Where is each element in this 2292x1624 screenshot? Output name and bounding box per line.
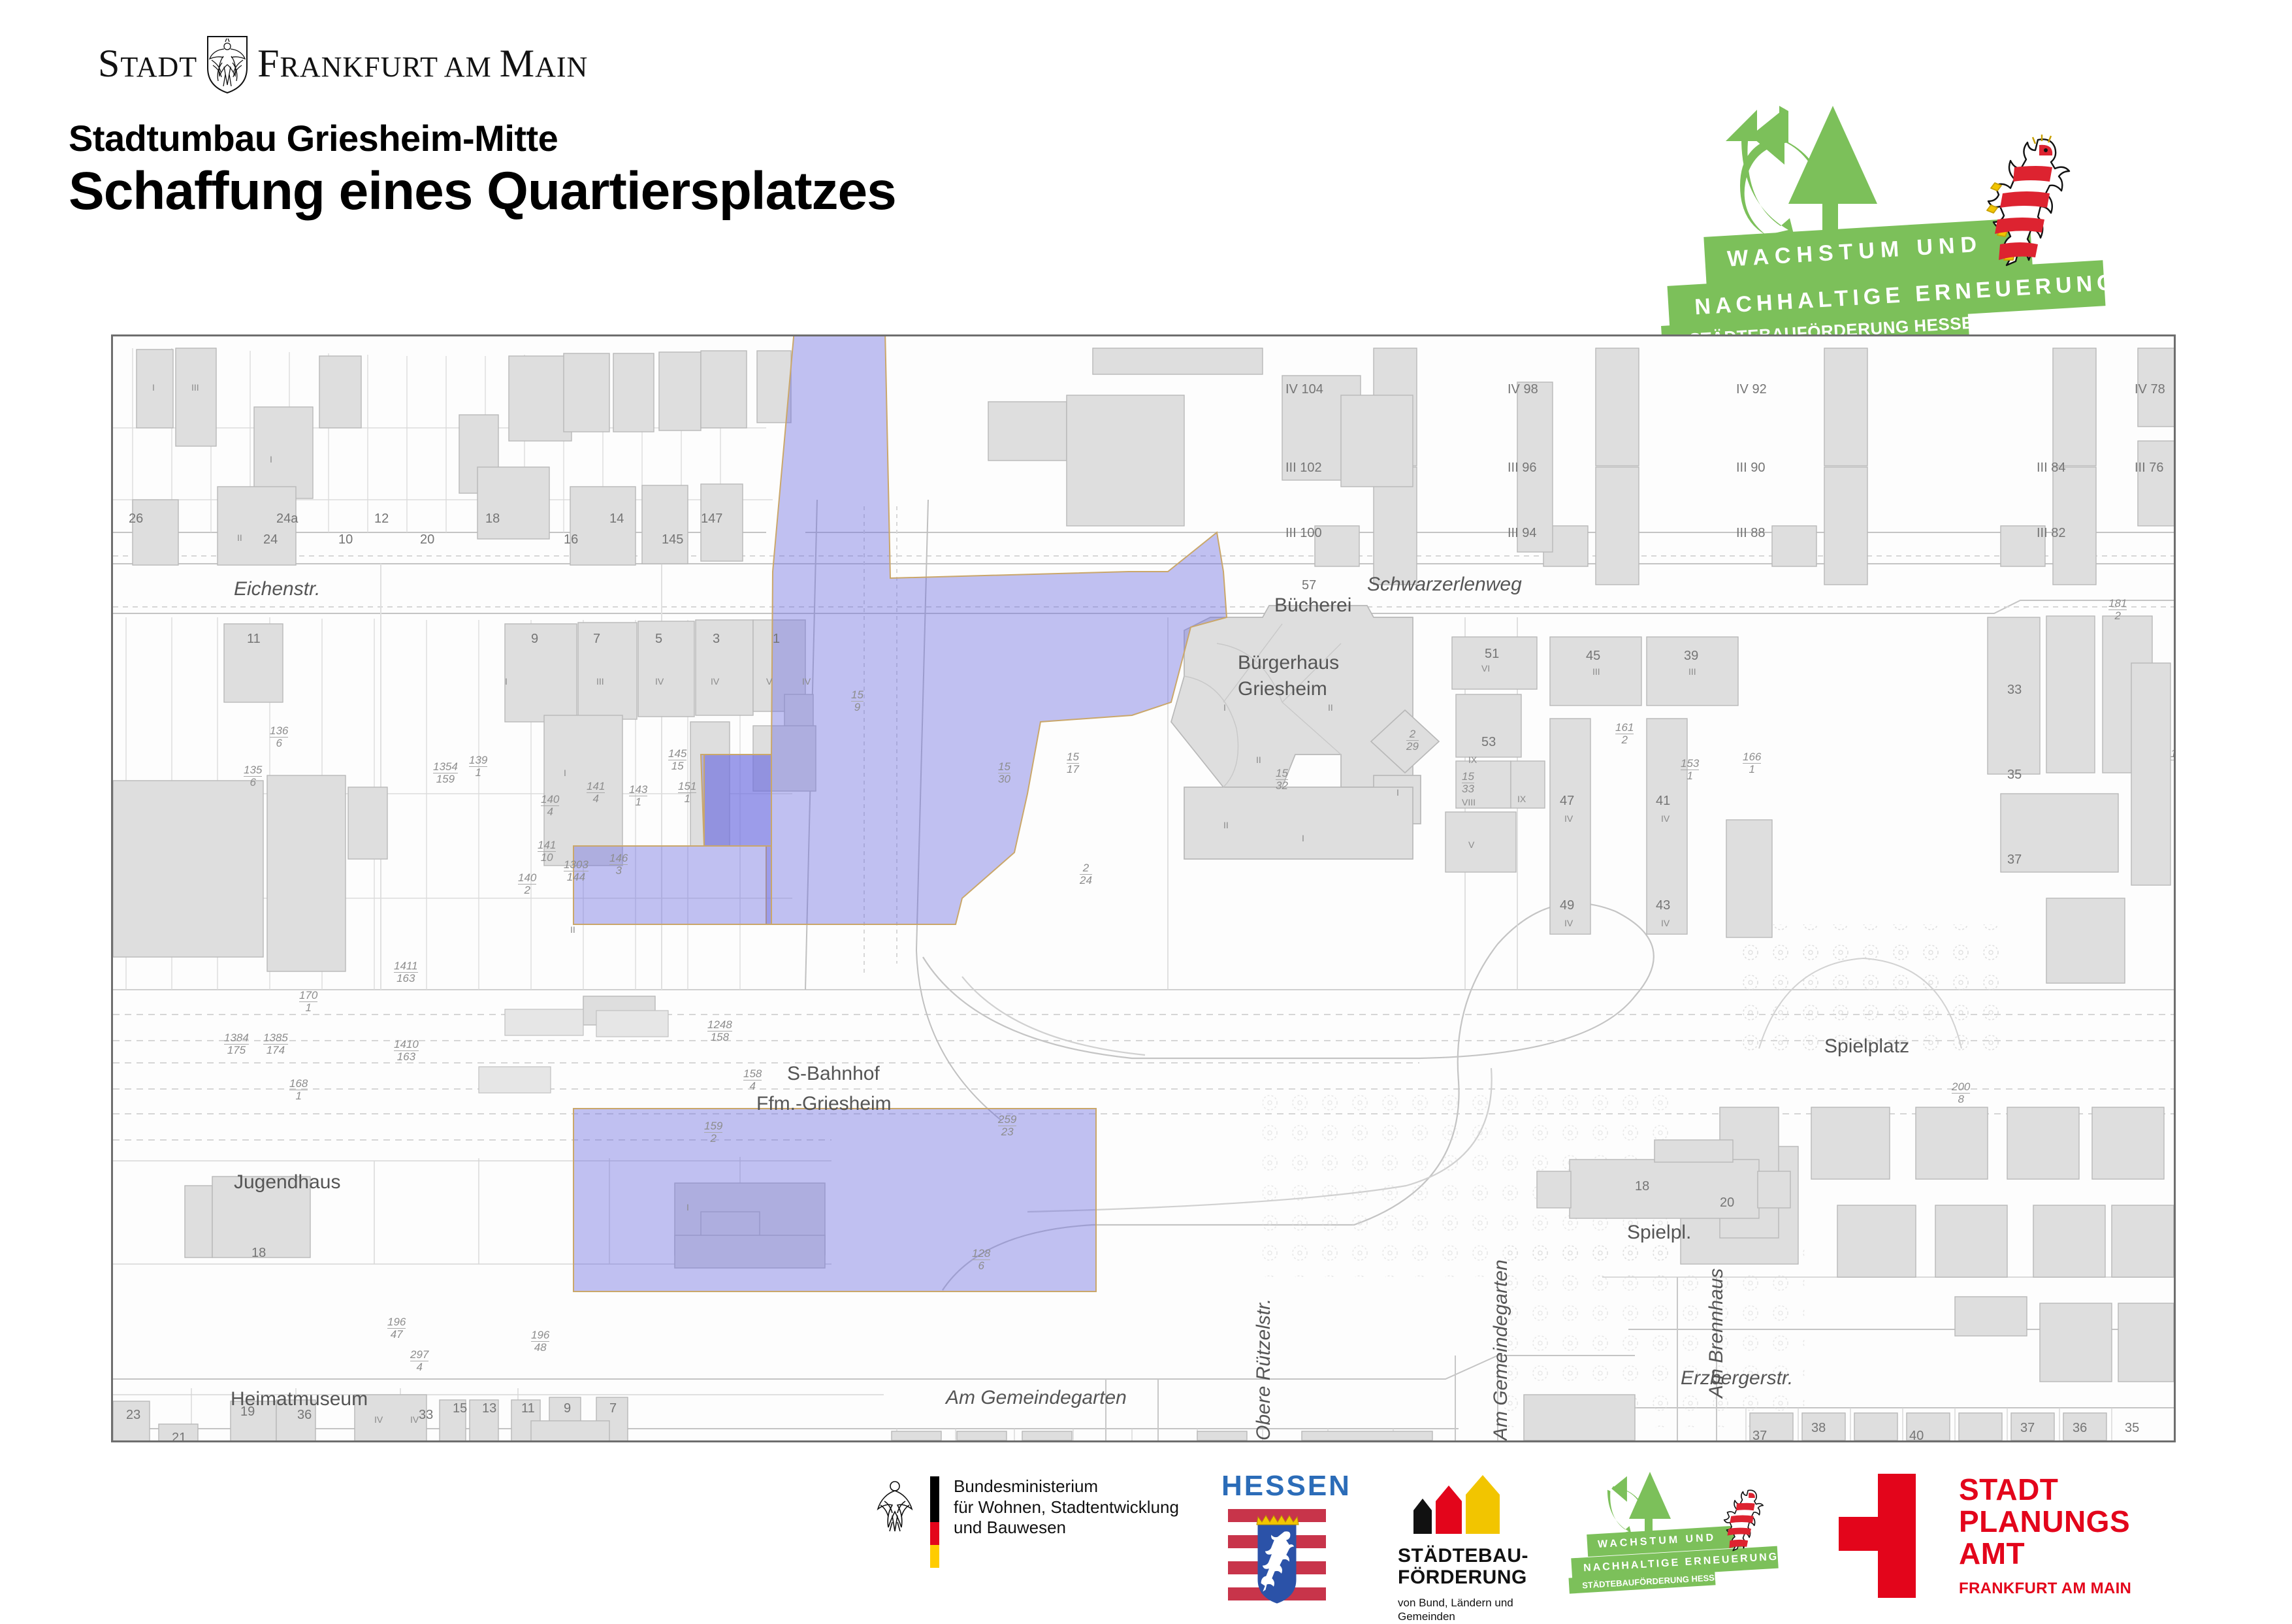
parcel-numerator: 1354 — [433, 761, 458, 773]
house-number: 1 — [773, 632, 780, 647]
title-block: Stadtumbau Griesheim-Mitte Schaffung ein… — [69, 118, 896, 221]
house-number: 3 — [713, 632, 720, 647]
house-number: 145 — [662, 532, 683, 547]
house-number: 7 — [609, 1401, 617, 1416]
house-number: 24 — [263, 532, 278, 547]
parcel-numerator: 159 — [704, 1120, 722, 1133]
parcel-denominator: 1 — [684, 792, 690, 805]
hessen-logo: HESSEN — [1221, 1470, 1332, 1606]
staedtebau-line2: FÖRDERUNG — [1398, 1567, 1555, 1588]
house-number: 33 — [419, 1408, 433, 1423]
logo-line1-text: WACHSTUM UND — [1726, 231, 1983, 272]
parcel-number: 1404 — [541, 794, 559, 818]
parcel-numerator: 259 — [998, 1114, 1016, 1126]
staedtebau-sub1: von Bund, Ländern und — [1398, 1596, 1555, 1610]
house-number: III 94 — [1508, 526, 1536, 541]
parcel-denominator: 6 — [250, 776, 255, 788]
parcel-number: 17 — [1759, 1440, 1765, 1442]
parcel-number: 1411163 — [394, 960, 418, 984]
parcel-numerator: 200 — [1952, 1081, 1970, 1094]
storey-count: V — [766, 676, 772, 687]
parcel-numerator: 153 — [1681, 758, 1699, 770]
parcel-numerator: 1384 — [224, 1032, 249, 1045]
parcel-numerator: 297 — [410, 1349, 428, 1361]
poi-label-s-bahnhof: S-Bahnhof — [787, 1063, 880, 1085]
parcel-denominator: 1 — [1749, 763, 1754, 775]
hessen-lion-icon-small — [1719, 1486, 1766, 1559]
parcel-denominator: 4 — [416, 1361, 422, 1373]
house-number: IV 92 — [1736, 382, 1767, 397]
house-number: 23 — [126, 1408, 140, 1423]
storey-count: I — [505, 676, 508, 687]
page-header: STADT FRANKFURT AM MAIN — [0, 0, 2292, 307]
page-subtitle: Stadtumbau Griesheim-Mitte — [69, 118, 896, 159]
house-number: 10 — [338, 532, 353, 547]
parcel-number: 1248158 — [707, 1019, 732, 1043]
house-number: 57 — [1302, 578, 1316, 593]
hessen-lion-icon — [1978, 131, 2076, 281]
parcel-denominator: 158 — [711, 1031, 729, 1043]
wachstum-erneuerung-logo-footer: WACHSTUM UND NACHHALTIGE ERNEUERUNG STÄD… — [1594, 1471, 1809, 1595]
parcel-numerator: 15 — [1067, 751, 1079, 764]
parcel-denominator: 1 — [305, 1001, 311, 1014]
parcel-numerator: 187 — [2171, 748, 2176, 760]
parcel-denominator: 4 — [547, 805, 553, 818]
parcel-numerator: 136 — [270, 725, 288, 738]
poi-label-ffm-griesheim: Ffm.-Griesheim — [756, 1093, 892, 1115]
parcel-denominator: 1 — [475, 766, 481, 779]
storey-count: II — [570, 924, 575, 935]
house-number: IV 104 — [1285, 382, 1323, 397]
house-number: 36 — [2073, 1421, 2087, 1436]
street-label-erzbergerstr: Erzbergerstr. — [1681, 1367, 1793, 1389]
parcel-denominator: 9 — [854, 701, 860, 713]
bmwsb-line1: Bundesministerium — [954, 1476, 1179, 1497]
parcel-numerator: 145 — [668, 748, 686, 760]
storey-count: IV — [655, 676, 664, 687]
parcel-denominator: 144 — [567, 871, 585, 883]
parcel-numerator: 1248 — [707, 1019, 732, 1031]
stadtplanungsamt-line3: AMT — [1959, 1538, 2131, 1570]
parcel-denominator: 6 — [276, 737, 282, 749]
house-number: 40 — [1909, 1429, 1924, 1442]
house-number: 9 — [564, 1401, 571, 1416]
house-number: 39 — [1684, 649, 1698, 664]
house-number: 2 — [903, 1440, 911, 1442]
parcel-numerator: 140 — [518, 872, 536, 885]
parcel-number: 19647 — [387, 1316, 406, 1340]
hessen-wordmark: HESSEN — [1221, 1470, 1332, 1502]
house-number: IV 78 — [2135, 382, 2165, 397]
house-number: 18 — [1635, 1179, 1649, 1194]
house-number: 11 — [521, 1401, 535, 1416]
poi-label-jugendhaus: Jugendhaus — [234, 1171, 340, 1194]
parcel-number: 1533 — [1462, 771, 1474, 795]
parcel-denominator: 1 — [295, 1090, 301, 1102]
parcel-number: 1366 — [270, 725, 288, 749]
parcel-number: 19648 — [531, 1329, 549, 1354]
storey-count: I — [1396, 787, 1399, 798]
street-label-am-brennhaus: Am Brennhaus — [1705, 1269, 1728, 1398]
storey-count: IX — [1468, 755, 1477, 765]
street-label-schwarzerlenweg: Schwarzerlenweg — [1367, 574, 1522, 596]
parcel-number: 1530 — [998, 761, 1010, 785]
parcel-numerator: 141 — [538, 839, 556, 852]
street-label-am-gemeindegarten-vert: Am Gemeindegarten — [1490, 1259, 1512, 1440]
parcel-numerator: 196 — [387, 1316, 406, 1329]
parcel-numerator: 128 — [972, 1248, 990, 1260]
parcel-number: 1286 — [972, 1248, 990, 1272]
house-number: 37 — [1752, 1429, 1767, 1442]
storey-count: IV — [1564, 918, 1573, 928]
parcel-number: 1354159 — [433, 761, 458, 785]
house-number: 18 — [485, 512, 500, 527]
parcel-denominator: 10 — [541, 851, 553, 864]
house-number: III 84 — [2037, 461, 2065, 476]
street-label-am-gemeindegarten: Am Gemeindegarten — [946, 1387, 1127, 1409]
house-number: 9 — [531, 632, 538, 647]
staedtebau-sub2: Gemeinden — [1398, 1610, 1555, 1623]
parcel-number: 1303144 — [564, 859, 589, 883]
storey-count: III — [1592, 666, 1600, 677]
storey-count: III — [191, 382, 199, 393]
staedtebau-line1: STÄDTEBAU- — [1398, 1545, 1555, 1567]
house-number: III 76 — [2135, 461, 2163, 476]
parcel-denominator: 47 — [391, 1328, 403, 1340]
parcel-denominator: 163 — [396, 972, 415, 984]
house-number: 21 — [172, 1431, 186, 1442]
house-number: 51 — [1485, 647, 1499, 662]
house-number: 11 — [247, 632, 261, 647]
bundesadler-icon — [869, 1476, 921, 1535]
stadt-frankfurt-logo: STADT FRANKFURT AM MAIN — [98, 36, 516, 91]
parcel-numerator: 135 — [244, 764, 262, 777]
parcel-numerator: 196 — [531, 1329, 549, 1342]
quartiersplatz-highlight-area — [113, 336, 2174, 1440]
cadastral-map[interactable]: Eichenstr. Schwarzerlenweg Erzbergerstr.… — [111, 334, 2176, 1442]
poi-label-spielplatz: Spielplatz — [1824, 1035, 1909, 1058]
house-number: 24a — [276, 512, 298, 527]
house-number: 41 — [1656, 794, 1670, 809]
parcel-number: 1612 — [1615, 722, 1634, 746]
tree-shape-icon — [1788, 106, 1877, 204]
house-number: 4 — [1024, 1440, 1031, 1442]
parcel-number: 1431 — [629, 784, 647, 808]
house-number: III 82 — [2037, 526, 2065, 541]
house-number: III 100 — [1285, 526, 1322, 541]
house-number: 33 — [2007, 683, 2022, 698]
house-number: 45 — [1586, 649, 1600, 664]
parcel-number: 229 — [1406, 728, 1419, 753]
house-number: 35 — [2125, 1421, 2139, 1436]
house-number: 20 — [420, 532, 434, 547]
stadtplanungsamt-logo: STADT PLANUNGS AMT FRANKFURT AM MAIN — [1839, 1474, 2131, 1598]
house-number: 5 — [1223, 1440, 1231, 1442]
footer-logo-line1-text: WACHSTUM UND — [1598, 1532, 1717, 1551]
parcel-number: 1873 — [2171, 748, 2176, 772]
bmwsb-line3: und Bauwesen — [954, 1518, 1179, 1538]
parcel-number: 25923 — [998, 1114, 1016, 1138]
storey-count: III — [289, 1440, 297, 1442]
parcel-denominator: 30 — [998, 773, 1010, 785]
parcel-denominator: 2 — [524, 884, 530, 896]
staedtebaufoerderung-logo: STÄDTEBAU- FÖRDERUNG von Bund, Ländern u… — [1398, 1475, 1555, 1624]
parcel-number: 1531 — [1681, 758, 1699, 782]
parcel-numerator: 1 — [1759, 1440, 1765, 1442]
parcel-denominator: 29 — [1406, 740, 1419, 753]
house-number: 18 — [251, 1246, 266, 1261]
parcel-denominator: 175 — [227, 1044, 246, 1056]
house-number: 35 — [2007, 768, 2022, 783]
parcel-denominator: 1 — [635, 796, 641, 808]
parcel-number: 224 — [1080, 862, 1092, 886]
parcel-denominator: 24 — [1080, 874, 1092, 886]
parcel-denominator: 23 — [1001, 1126, 1014, 1138]
parcel-numerator: 15 — [1276, 768, 1288, 780]
house-number: 5 — [655, 632, 662, 647]
parcel-number: 1414 — [587, 781, 605, 805]
parcel-denominator: 32 — [1276, 779, 1288, 792]
poi-label-buergerhaus: Bürgerhaus — [1238, 652, 1339, 674]
storey-count: III — [1688, 666, 1696, 677]
staedtebau-houses-icon — [1398, 1475, 1528, 1534]
stadtplanungsamt-sub: FRANKFURT AM MAIN — [1959, 1580, 2131, 1598]
parcel-numerator: 151 — [678, 781, 696, 793]
parcel-number: 1517 — [1067, 751, 1079, 775]
storey-count: V — [1468, 839, 1474, 850]
storey-count: IV — [1564, 813, 1573, 824]
house-number: III 96 — [1508, 461, 1536, 476]
parcel-numerator: 15 — [998, 761, 1010, 773]
storey-count: II — [1256, 755, 1261, 765]
poi-label-griesheim: Griesheim — [1238, 678, 1327, 700]
tree-shape-icon-small — [1629, 1472, 1671, 1519]
parcel-number: 1532 — [1276, 768, 1288, 792]
parcel-denominator: 2 — [710, 1132, 716, 1145]
street-label-eichenstr: Eichenstr. — [234, 578, 320, 600]
parcel-number: 1463 — [609, 853, 628, 877]
parcel-denominator: 33 — [1462, 783, 1474, 795]
storey-count: IV — [410, 1414, 419, 1425]
parcel-number: 1812 — [2108, 598, 2127, 622]
house-number: 15 — [453, 1401, 467, 1416]
storey-count: I — [564, 768, 566, 778]
parcel-numerator: 1303 — [564, 859, 589, 871]
storey-count: IV — [374, 1414, 383, 1425]
storey-count: IV — [711, 676, 719, 687]
parcel-numerator: 181 — [2108, 598, 2127, 610]
parcel-number: 1384175 — [224, 1032, 249, 1056]
house-number: 43 — [1656, 898, 1670, 913]
house-number: III 88 — [1736, 526, 1765, 541]
house-number: 147 — [701, 512, 722, 527]
parcel-numerator: 15 — [1462, 771, 1474, 783]
house-number: 37 — [2007, 853, 2022, 868]
parcel-numerator: 2 — [1080, 862, 1092, 875]
hessen-flag-shield — [1221, 1508, 1332, 1606]
german-flag-bar — [930, 1476, 939, 1568]
parcel-number: 1402 — [518, 872, 536, 896]
wordmark-frankfurt-am-main: FRANKFURT AM MAIN — [257, 41, 588, 86]
poi-label-buecherei: Bücherei — [1274, 594, 1351, 617]
parcel-numerator: 139 — [469, 755, 487, 767]
storey-count: VI — [1481, 663, 1490, 674]
frankfurt-eagle-shield-icon — [204, 34, 251, 94]
parcel-numerator: 1410 — [394, 1039, 419, 1051]
parcel-numerator: 161 — [1615, 722, 1634, 734]
house-number: 20 — [1720, 1195, 1734, 1210]
parcel-denominator: 3 — [615, 864, 621, 877]
house-number: 34 — [1132, 1440, 1146, 1442]
storey-count: IV — [802, 676, 811, 687]
parcel-denominator: 17 — [1067, 763, 1079, 775]
house-number: 53 — [1481, 735, 1496, 750]
parcel-denominator: 8 — [1958, 1093, 1963, 1105]
storey-count: IV — [1661, 813, 1670, 824]
storey-count: I — [686, 1202, 689, 1212]
storey-count: II — [237, 532, 242, 543]
parcel-number: 1584 — [743, 1068, 762, 1092]
parcel-numerator: 170 — [299, 990, 317, 1002]
house-number: 37 — [2020, 1421, 2035, 1436]
house-number: 26 — [129, 512, 143, 527]
parcel-denominator: 4 — [592, 792, 598, 805]
parcel-number: 1356 — [244, 764, 262, 788]
house-number: 38 — [1811, 1421, 1826, 1436]
house-number: 19 — [240, 1405, 255, 1420]
parcel-number: 1661 — [1743, 751, 1761, 775]
storey-count: I — [1223, 702, 1226, 713]
parcel-number: 2008 — [1952, 1081, 1970, 1105]
storey-count: III — [596, 676, 604, 687]
storey-count: II — [1223, 820, 1229, 830]
bmwsb-text-block: Bundesministerium für Wohnen, Stadtentwi… — [954, 1476, 1179, 1538]
parcel-numerator: 1411 — [394, 960, 418, 973]
poi-label-spielpl: Spielpl. — [1627, 1222, 1691, 1244]
house-number: 47 — [1560, 794, 1574, 809]
parcel-number: 1410163 — [394, 1039, 419, 1063]
parcel-denominator: 2 — [1621, 734, 1627, 746]
parcel-number: 1681 — [289, 1078, 308, 1102]
house-number: III 102 — [1285, 461, 1322, 476]
parcel-numerator: 141 — [587, 781, 605, 793]
stadtplanungsamt-mark-icon — [1839, 1474, 1930, 1598]
wordmark-stadt: STADT — [98, 41, 197, 86]
house-number: 49 — [1560, 898, 1574, 913]
house-number: 16 — [564, 532, 578, 547]
house-number: 36 — [297, 1408, 312, 1423]
parcel-numerator: 143 — [629, 784, 647, 796]
parcel-number: 14110 — [538, 839, 556, 864]
storey-count: IX — [1517, 794, 1526, 804]
parcel-denominator: 1 — [1687, 770, 1692, 782]
house-number: 3 — [962, 1440, 969, 1442]
parcel-numerator: 166 — [1743, 751, 1761, 764]
parcel-numerator: 2 — [1406, 728, 1419, 741]
parcel-number: 14515 — [668, 748, 686, 772]
parcel-denominator: 163 — [397, 1050, 415, 1063]
parcel-denominator: 15 — [671, 760, 684, 772]
stadtplanungsamt-line1: STADT — [1959, 1474, 2131, 1506]
house-number: III 90 — [1736, 461, 1765, 476]
house-number: 14 — [609, 512, 624, 527]
storey-count: I — [1302, 833, 1304, 843]
parcel-number: 1511 — [678, 781, 696, 805]
storey-count: II — [1328, 702, 1333, 713]
parcel-number: 1592 — [704, 1120, 722, 1145]
parcel-numerator: 15 — [851, 689, 864, 702]
house-number: 13 — [482, 1401, 496, 1416]
wachstum-erneuerung-logo: WACHSTUM UND NACHHALTIGE ERNEUERUNG STÄD… — [1711, 105, 2169, 294]
storey-count: I — [152, 382, 155, 393]
bmwsb-logo: Bundesministerium für Wohnen, Stadtentwi… — [869, 1476, 1179, 1568]
parcel-denominator: 4 — [749, 1080, 755, 1092]
storey-count: I — [270, 454, 272, 464]
street-label-obere-ruetzelstr: Obere Rützelstr. — [1253, 1299, 1275, 1440]
parcel-numerator: 146 — [609, 853, 628, 865]
parcel-numerator: 1385 — [263, 1032, 288, 1045]
parcel-number: 2974 — [410, 1349, 428, 1373]
page-title: Schaffung eines Quartiersplatzes — [69, 162, 896, 221]
house-number: 7 — [593, 632, 600, 647]
parcel-number: 1385174 — [263, 1032, 288, 1056]
parcel-denominator: 6 — [978, 1259, 984, 1272]
bmwsb-line2: für Wohnen, Stadtentwicklung — [954, 1497, 1179, 1518]
page-footer: Bundesministerium für Wohnen, Stadtentwi… — [0, 1463, 2292, 1620]
parcel-numerator: 140 — [541, 794, 559, 806]
parcel-denominator: 174 — [266, 1044, 285, 1056]
parcel-denominator: 48 — [534, 1341, 547, 1354]
parcel-numerator: 158 — [743, 1068, 762, 1080]
storey-count: VIII — [1462, 797, 1476, 807]
stadtplanungsamt-line2: PLANUNGS — [1959, 1506, 2131, 1538]
parcel-number: 1391 — [469, 755, 487, 779]
house-number: 6 — [1354, 1440, 1361, 1442]
parcel-denominator: 159 — [436, 773, 455, 785]
storey-count: IV — [1661, 918, 1670, 928]
parcel-denominator: 2 — [2114, 609, 2120, 622]
parcel-number: 159 — [851, 689, 864, 713]
house-number: IV 98 — [1508, 382, 1538, 397]
house-number: 12 — [374, 512, 389, 527]
parcel-numerator: 168 — [289, 1078, 308, 1090]
parcel-number: 1701 — [299, 990, 317, 1014]
